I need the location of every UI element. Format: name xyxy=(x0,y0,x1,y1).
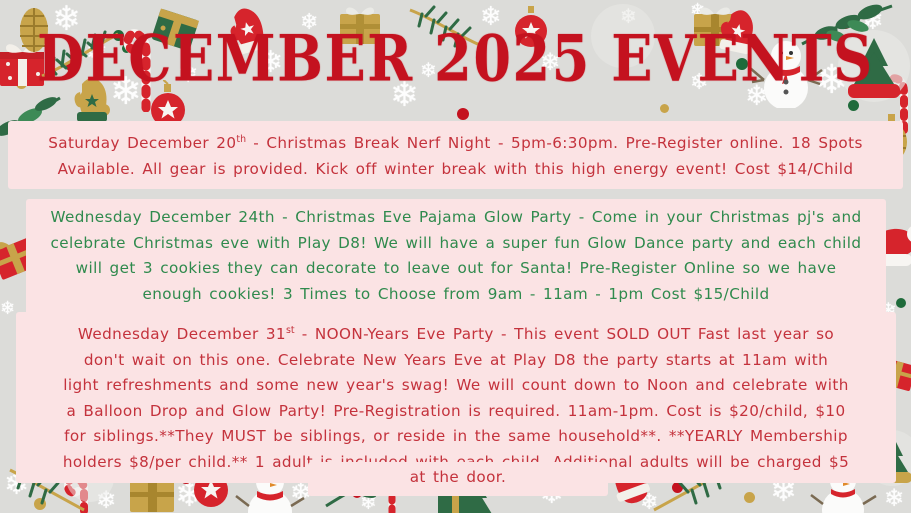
dot-gold xyxy=(456,496,468,508)
dot-green xyxy=(848,100,859,111)
event-block-nerf-night: Saturday December 20th - Christmas Break… xyxy=(8,121,903,189)
snowflake-icon: ❄ xyxy=(175,478,204,512)
event-block-noon-years-eve-tail: at the door. xyxy=(308,462,608,496)
event-line: Wednesday December 24th - Christmas Eve … xyxy=(42,205,870,231)
event-date-prefix: Saturday December 20 xyxy=(48,134,236,152)
dot-gold xyxy=(744,492,755,503)
event-line: Saturday December 20th - Christmas Break… xyxy=(22,127,889,157)
event-line: enough cookies! 3 Times to Choose from 9… xyxy=(42,282,870,308)
flyer-title-container: DECEMBER 2025 EVENTS xyxy=(0,22,911,83)
date-ordinal-suffix: st xyxy=(286,325,295,336)
snowflake-icon: ❄ xyxy=(690,2,705,20)
dot-gold xyxy=(34,498,46,510)
date-ordinal-suffix: th xyxy=(236,134,246,145)
snowflake-icon: ❄ xyxy=(96,488,116,512)
dot-gold xyxy=(660,104,669,113)
dot-red xyxy=(672,482,683,493)
snowflake-icon: ❄ xyxy=(640,492,658,513)
event-block-pajama-glow-party: Wednesday December 24th - Christmas Eve … xyxy=(26,199,886,315)
event-line: Wednesday December 31st - NOON-Years Eve… xyxy=(30,318,882,348)
dot-green xyxy=(896,298,906,308)
event-line: celebrate Christmas eve with Play D8! We… xyxy=(42,231,870,257)
event-line: at the door. xyxy=(318,465,598,491)
dot-gold xyxy=(890,248,900,258)
event-line: light refreshments and some new year's s… xyxy=(30,373,882,399)
event-line: will get 3 cookies they can decorate to … xyxy=(42,256,870,282)
event-date-prefix: Wednesday December 31 xyxy=(78,325,286,343)
snowflake-icon: ❄ xyxy=(0,300,15,318)
event-line-rest: - NOON-Years Eve Party - This event SOLD… xyxy=(295,325,835,343)
snowflake-icon: ❄ xyxy=(884,486,904,510)
december-events-flyer: ❄ ❄ ❄ ❄ ❄ ❄ ❄ ❄ ❄ ❄ ❄ ❄ ❄ ❄ ❄ ❄ ❄ ❄ ❄ ❄ … xyxy=(0,0,911,513)
event-line-rest: - Christmas Break Nerf Night - 5pm-6:30p… xyxy=(246,134,863,152)
event-block-noon-years-eve-party: Wednesday December 31st - NOON-Years Eve… xyxy=(16,312,896,483)
dot-red xyxy=(457,108,469,120)
event-line: don't wait on this one. Celebrate New Ye… xyxy=(30,348,882,374)
event-line: for siblings.**They MUST be siblings, or… xyxy=(30,424,882,450)
page-title: DECEMBER 2025 EVENTS xyxy=(0,22,911,96)
event-line: a Balloon Drop and Glow Party! Pre-Regis… xyxy=(30,399,882,425)
event-line: Available. All gear is provided. Kick of… xyxy=(22,157,889,183)
dot-gold xyxy=(98,104,110,116)
